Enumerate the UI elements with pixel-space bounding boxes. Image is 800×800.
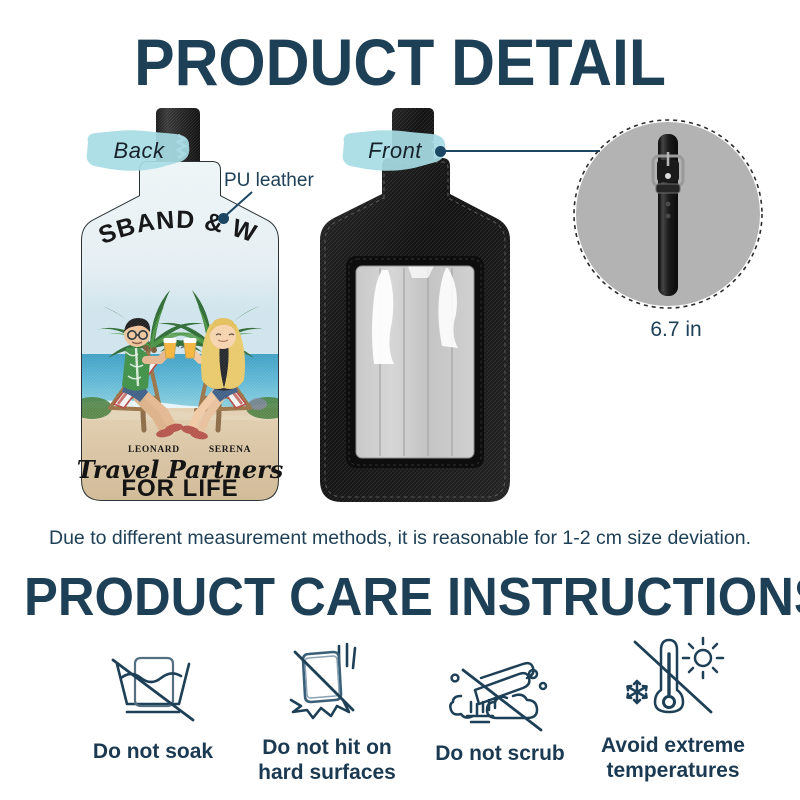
id-window — [356, 266, 474, 458]
icon-container — [58, 638, 248, 730]
pu-leather-label: PU leather — [224, 170, 314, 192]
strap-detail-callout — [558, 118, 778, 343]
strap-detail-svg — [558, 118, 778, 338]
back-tag-name-left: LEONARD — [128, 445, 180, 455]
badge-back-label: Back — [84, 128, 194, 174]
care-item-do-not-hit: Do not hit on hard surfaces — [232, 634, 422, 785]
no-scrub-icon — [445, 652, 555, 732]
care-item-avoid-extreme-temps: Avoid extreme temperatures — [578, 632, 768, 783]
badge-front-label: Front — [340, 128, 450, 174]
care-item-do-not-scrub: Do not scrub — [405, 640, 595, 767]
care-label: Do not soak — [58, 740, 248, 765]
no-extreme-temp-icon — [621, 632, 725, 724]
care-label: Do not scrub — [405, 742, 595, 767]
infographic-canvas: PRODUCT DETAIL — [0, 0, 800, 800]
measurement-deviation-note: Due to different measurement methods, it… — [0, 527, 800, 550]
page-title: PRODUCT DETAIL — [32, 24, 768, 100]
care-label: Do not hit on hard surfaces — [232, 736, 422, 785]
icon-container — [405, 640, 595, 732]
back-tag-bottom-text: FOR LIFE — [121, 475, 238, 502]
back-tag-name-right: SERENA — [209, 445, 251, 455]
badge-front: Front — [340, 128, 450, 174]
care-item-do-not-soak: Do not soak — [58, 638, 248, 765]
pu-leather-anchor-dot — [218, 213, 229, 224]
icon-container — [578, 632, 768, 724]
strap-size-label: 6.7 in — [586, 318, 766, 342]
care-label: Avoid extreme temperatures — [578, 734, 768, 783]
icon-container — [232, 634, 422, 726]
badge-back: Back — [84, 128, 194, 174]
front-tag-body — [320, 158, 510, 502]
front-badge-anchor-dot — [435, 146, 446, 157]
no-impact-icon — [279, 638, 375, 726]
care-section-title: PRODUCT CARE INSTRUCTIONS — [24, 566, 776, 628]
no-soak-icon — [105, 646, 201, 730]
